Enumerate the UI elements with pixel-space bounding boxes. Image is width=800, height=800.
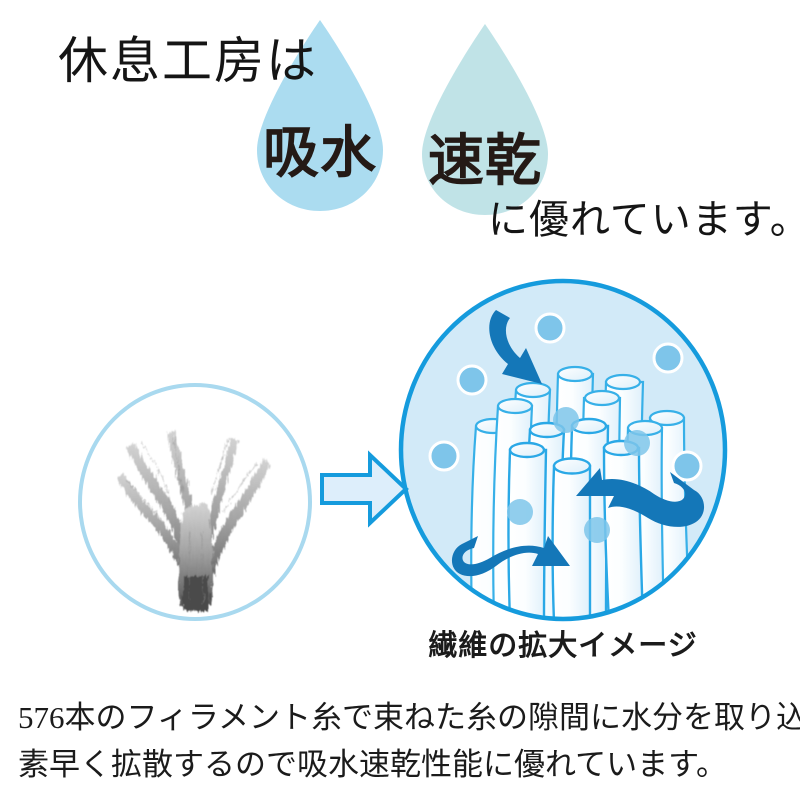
droplet-absorb-label: 吸水 xyxy=(252,126,388,182)
fiber-diagram-circle xyxy=(398,278,728,622)
body-copy: 576本のフィラメント糸で束ねた糸の隙間に水分を取り込み、 素早く拡散するので吸… xyxy=(18,694,788,788)
headline-brand-text: 休息工房は xyxy=(58,36,318,86)
fiber-bundle-photo xyxy=(82,387,308,617)
body-copy-line-2: 素早く拡散するので吸水速乾性能に優れています。 xyxy=(18,741,788,788)
headline-tail-text: に優れています。 xyxy=(488,200,800,240)
droplet-dry: 速乾 xyxy=(417,22,553,218)
transition-arrow-icon xyxy=(318,447,410,531)
diagram-caption: 繊維の拡大イメージ xyxy=(398,622,728,664)
droplet-dry-label: 速乾 xyxy=(417,134,553,190)
fiber-photo-circle xyxy=(78,383,312,621)
body-copy-line-1: 576本のフィラメント糸で束ねた糸の隙間に水分を取り込み、 xyxy=(18,694,788,741)
poster-canvas: 休息工房は 吸水 速乾 に優れています。 xyxy=(0,0,800,800)
